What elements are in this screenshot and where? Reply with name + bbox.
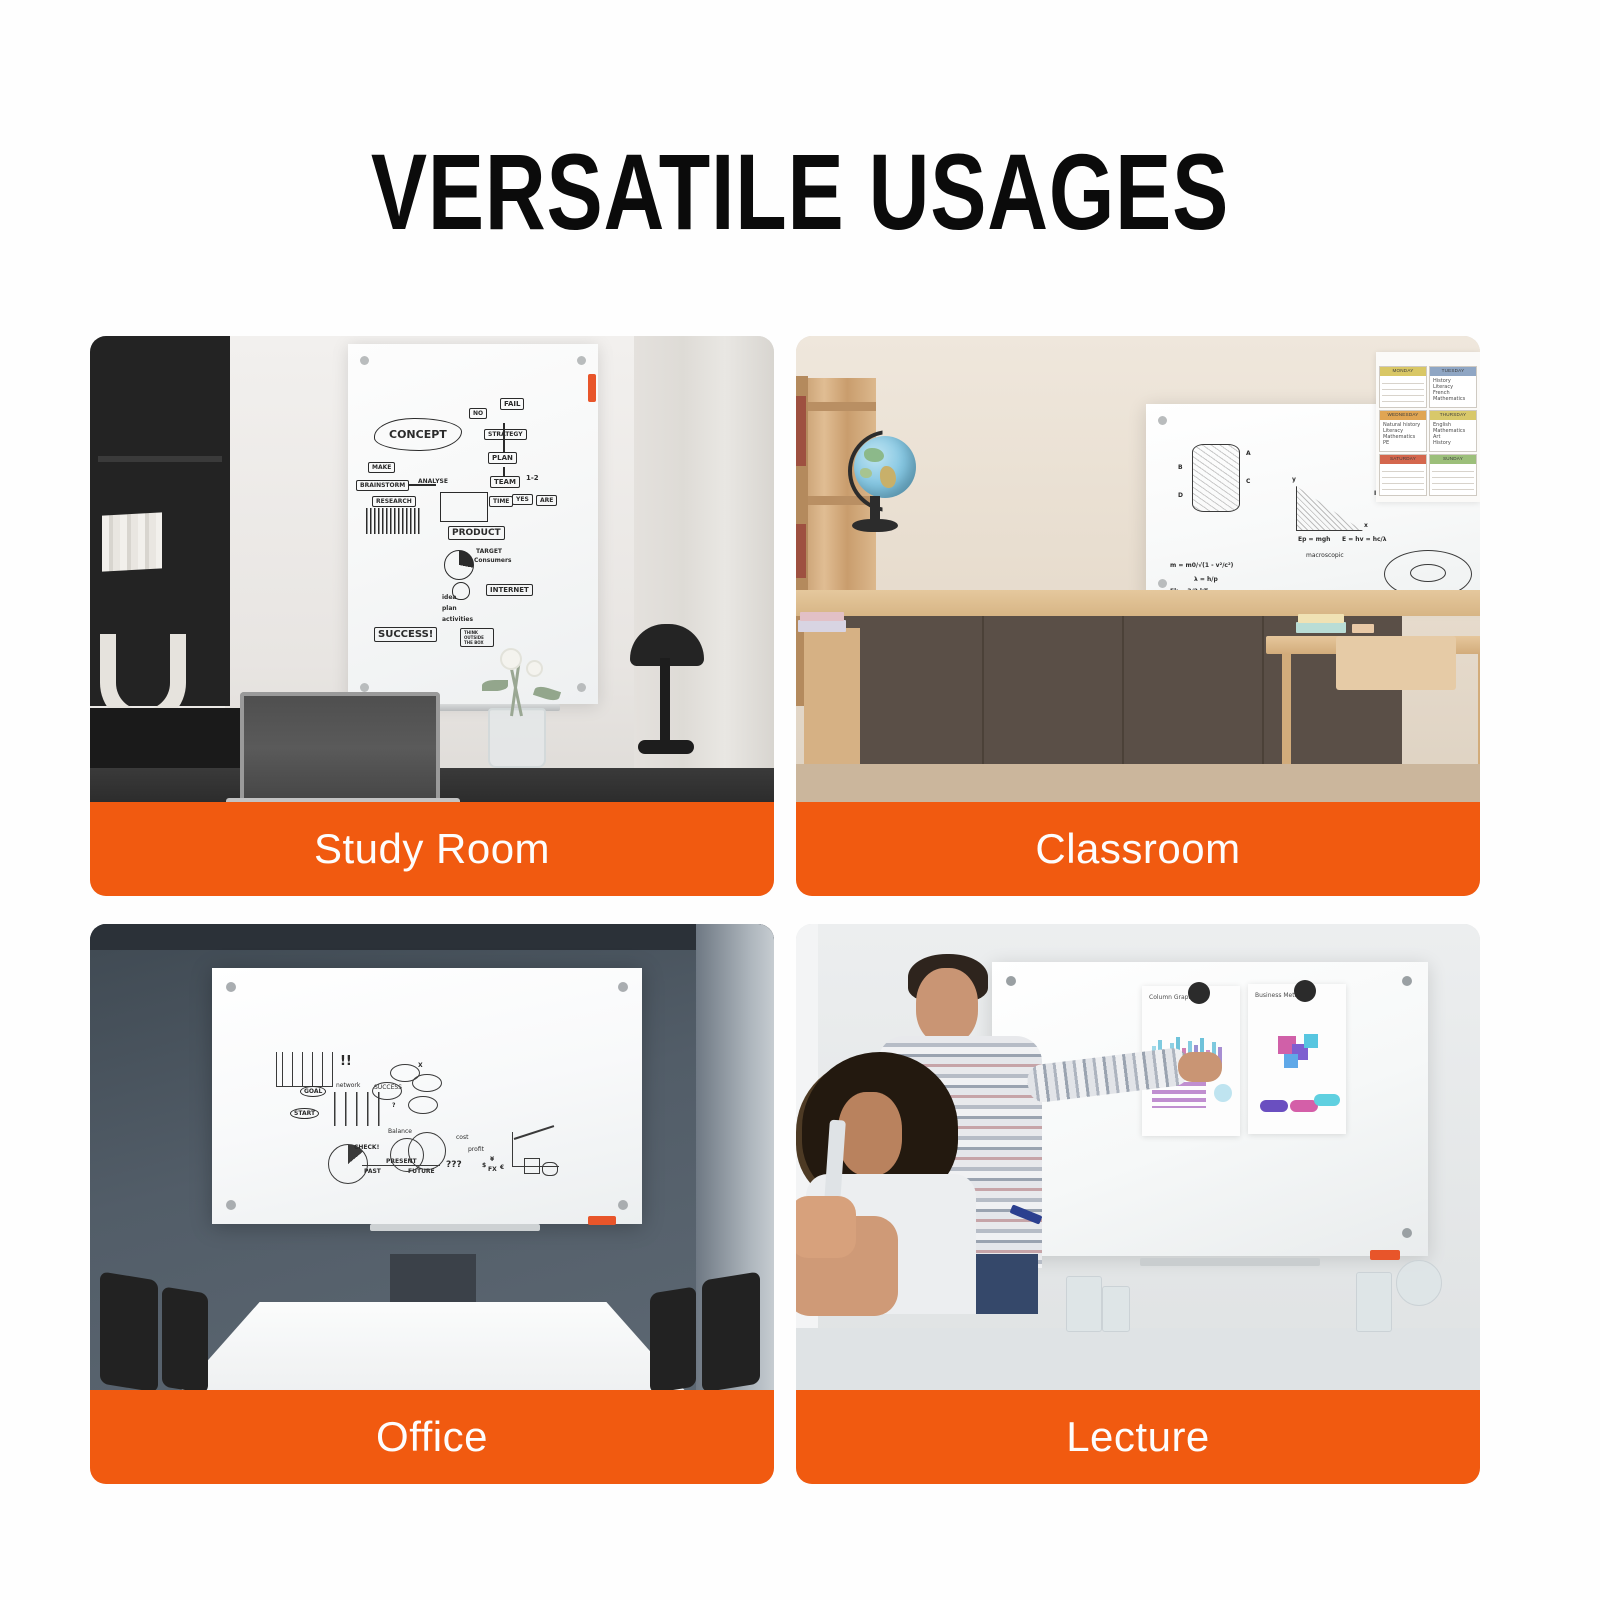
note-strategy: STRATEGY bbox=[484, 429, 527, 440]
cell-lines bbox=[1382, 466, 1424, 493]
day-header: WEDNESDAY bbox=[1380, 411, 1426, 420]
brand-tag bbox=[588, 1216, 616, 1225]
drinking-glass bbox=[1356, 1272, 1392, 1332]
eq-de-broglie: λ = h/p bbox=[1194, 576, 1218, 583]
sketch-bar-chart bbox=[366, 508, 422, 534]
sketch-candlestick-chart bbox=[276, 1052, 333, 1087]
note-plan: PLAN bbox=[488, 452, 517, 464]
sticky-notes bbox=[1352, 624, 1374, 633]
marker-tray bbox=[1140, 1258, 1320, 1266]
sketch-slide-frame bbox=[440, 492, 488, 522]
note-fail: FAIL bbox=[500, 398, 524, 410]
note-yes: YES bbox=[512, 494, 533, 505]
mount-bolt-icon bbox=[1402, 1228, 1412, 1238]
eq-potential-energy: Ep = mgh bbox=[1298, 536, 1330, 543]
curtain bbox=[634, 336, 774, 802]
cabinet-divider bbox=[1262, 616, 1264, 764]
sketch-lightbulb-icon bbox=[452, 582, 470, 600]
mount-bolt-icon bbox=[577, 356, 586, 365]
cell-subjects: English Mathematics Art History bbox=[1433, 422, 1465, 446]
brand-tag bbox=[588, 374, 596, 402]
card-caption-study-room: Study Room bbox=[90, 802, 774, 896]
note-research: RESEARCH bbox=[372, 496, 416, 507]
day-header: TUESDAY bbox=[1430, 367, 1476, 376]
note-plan2: plan bbox=[442, 605, 457, 612]
book bbox=[796, 396, 806, 466]
sketch-disc-hole bbox=[1410, 564, 1446, 582]
note-activities: activities bbox=[442, 616, 473, 623]
study-room-photo: CONCEPT FAIL NO STRATEGY PLAN TEAM 1-2 M… bbox=[90, 336, 774, 802]
note-balance: Balance bbox=[388, 1128, 412, 1135]
sketch-arrow bbox=[503, 445, 505, 453]
drinking-glass bbox=[1102, 1286, 1130, 1332]
page-title: VERSATILE USAGES bbox=[176, 138, 1424, 246]
desk-lamp-arm bbox=[660, 658, 670, 746]
chair-seat bbox=[1336, 636, 1456, 690]
note-goal: GOAL bbox=[300, 1086, 326, 1097]
axis-x: x bbox=[1364, 522, 1368, 529]
glass-whiteboard: CONCEPT FAIL NO STRATEGY PLAN TEAM 1-2 M… bbox=[348, 344, 598, 704]
timetable-cell: TUESDAY History Literacy French Mathemat… bbox=[1429, 366, 1477, 408]
note-yen: ¥ bbox=[490, 1156, 494, 1163]
note-profit: profit bbox=[468, 1146, 484, 1153]
foreground-hand bbox=[796, 1196, 856, 1258]
puzzle-piece-icon bbox=[1284, 1054, 1298, 1068]
ceiling-shadow bbox=[90, 924, 774, 950]
mount-bolt-icon bbox=[1006, 976, 1016, 986]
meeting-chair bbox=[702, 1271, 760, 1390]
sketch-puzzle-piece bbox=[542, 1162, 558, 1176]
timetable-poster: MONDAY TUESDAY History Literacy French M… bbox=[1376, 352, 1480, 502]
timetable-cell: THURSDAY English Mathematics Art History bbox=[1429, 410, 1477, 452]
meeting-chair bbox=[650, 1286, 696, 1390]
usage-card-lecture[interactable]: Column Graphs bbox=[796, 924, 1480, 1484]
card-caption-classroom: Classroom bbox=[796, 802, 1480, 896]
cell-lines bbox=[1382, 378, 1424, 405]
counter bbox=[796, 1328, 1480, 1390]
note-are: ARE bbox=[536, 495, 557, 506]
eq-relativistic-mass: m = m0/√(1 - v²/c²) bbox=[1170, 562, 1233, 569]
magnet-icon[interactable] bbox=[1188, 982, 1210, 1004]
sketch-people-network bbox=[334, 1092, 380, 1126]
note-network: network bbox=[336, 1082, 360, 1089]
note-cost: cost bbox=[456, 1134, 468, 1141]
poster-pill bbox=[1314, 1094, 1340, 1106]
books bbox=[102, 512, 162, 571]
mount-bolt-icon bbox=[226, 982, 236, 992]
lecture-photo: Column Graphs bbox=[796, 924, 1480, 1390]
note-euro: € bbox=[500, 1164, 504, 1171]
poster-pill bbox=[1260, 1100, 1288, 1112]
flower-vase bbox=[488, 708, 546, 768]
poster-business-metaphor: Business Metaphor bbox=[1248, 984, 1346, 1134]
flower-leaf bbox=[482, 680, 508, 691]
floor bbox=[796, 764, 1480, 802]
timetable-cell: MONDAY bbox=[1379, 366, 1427, 408]
note-internet: INTERNET bbox=[486, 584, 533, 596]
day-header: MONDAY bbox=[1380, 367, 1426, 376]
note-check: CHECK! bbox=[354, 1144, 379, 1151]
mount-bolt-icon bbox=[618, 1200, 628, 1210]
book-stack bbox=[1296, 622, 1346, 633]
office-photo: !‌! GOAL START network SUCCESS X ? bbox=[90, 924, 774, 1390]
note-past: PAST bbox=[364, 1168, 381, 1175]
mount-bolt-icon bbox=[577, 683, 586, 692]
cell-subjects: Natural history Literacy Mathematics PE bbox=[1383, 422, 1420, 446]
usage-card-study-room[interactable]: CONCEPT FAIL NO STRATEGY PLAN TEAM 1-2 M… bbox=[90, 336, 774, 896]
sketch-node bbox=[408, 1096, 438, 1114]
meeting-chair bbox=[100, 1271, 158, 1390]
usage-card-classroom[interactable]: A B C D y x I = V/R Ep = mgh E = hv = hc… bbox=[796, 336, 1480, 896]
desk-leg bbox=[1478, 654, 1480, 764]
note-one-two: 1-2 bbox=[526, 474, 539, 482]
note-team: TEAM bbox=[490, 476, 520, 488]
card-caption-office: Office bbox=[90, 1390, 774, 1484]
conference-table bbox=[178, 1302, 688, 1390]
note-question: ? bbox=[392, 1102, 395, 1109]
sketch-pie-chart bbox=[444, 550, 474, 580]
sketch-triangle-graph bbox=[1296, 486, 1363, 531]
brand-tag bbox=[1370, 1250, 1400, 1260]
note-questions: ??? bbox=[446, 1160, 462, 1170]
presenter-head bbox=[916, 968, 978, 1044]
note-success: SUCCESS! bbox=[374, 627, 437, 642]
marketing-page: VERSATILE USAGES bbox=[0, 0, 1600, 1600]
book-stack bbox=[1298, 614, 1344, 623]
sketch-exclamations: !‌! bbox=[340, 1054, 352, 1069]
presenter-pointing-hand bbox=[1178, 1052, 1222, 1082]
timetable-cell: SUNDAY bbox=[1429, 454, 1477, 496]
note-target: TARGET bbox=[476, 548, 502, 555]
note-brainstorm: BRAINSTORM bbox=[356, 480, 409, 491]
puzzle-piece-icon bbox=[1304, 1034, 1318, 1048]
cell-lines bbox=[1432, 466, 1474, 493]
marker-tray bbox=[370, 1224, 540, 1231]
note-present: PRESENT bbox=[386, 1158, 417, 1165]
note-future: FUTURE bbox=[408, 1168, 435, 1175]
card-caption-lecture: Lecture bbox=[796, 1390, 1480, 1484]
sketch-puzzle-piece bbox=[524, 1158, 540, 1174]
mount-bolt-icon bbox=[1402, 976, 1412, 986]
mount-bolt-icon bbox=[1158, 416, 1167, 425]
timetable-cell: SATURDAY bbox=[1379, 454, 1427, 496]
label-b: B bbox=[1178, 464, 1183, 471]
usage-card-grid: CONCEPT FAIL NO STRATEGY PLAN TEAM 1-2 M… bbox=[90, 336, 1510, 1484]
note-no: NO bbox=[469, 408, 487, 419]
sketch-arrow bbox=[503, 423, 505, 447]
book bbox=[796, 524, 806, 578]
globe-base bbox=[852, 519, 898, 532]
day-header: THURSDAY bbox=[1430, 411, 1476, 420]
note-dollar: $ bbox=[482, 1162, 486, 1169]
note-make: MAKE bbox=[368, 462, 395, 473]
wooden-chair bbox=[804, 628, 860, 768]
mount-bolt-icon bbox=[226, 1200, 236, 1210]
cabinet-divider bbox=[1122, 616, 1124, 764]
glass-whiteboard: Column Graphs bbox=[992, 962, 1428, 1256]
drinking-glass bbox=[1066, 1276, 1102, 1332]
label-d: D bbox=[1178, 492, 1183, 499]
note-consumers: Consumers bbox=[474, 557, 512, 564]
shelf-divider bbox=[98, 456, 222, 462]
sketch-arrow bbox=[408, 484, 436, 486]
ladder-rung bbox=[804, 402, 876, 411]
mount-bolt-icon bbox=[360, 356, 369, 365]
note-think-outside-box: THINK OUTSIDE THE BOX bbox=[460, 628, 494, 647]
poster-donut-icon bbox=[1214, 1084, 1232, 1102]
bowl bbox=[1396, 1260, 1442, 1306]
sketch-cylinder bbox=[1192, 444, 1240, 512]
glass-whiteboard: !‌! GOAL START network SUCCESS X ? bbox=[212, 968, 642, 1224]
eq-photon-energy: E = hv = hc/λ bbox=[1342, 536, 1387, 543]
label-macroscopic: macroscopic bbox=[1306, 552, 1344, 559]
sketch-node bbox=[372, 1082, 402, 1100]
book-stack bbox=[800, 612, 844, 621]
desk-lamp-base bbox=[638, 740, 694, 754]
sketch-timeline bbox=[362, 1165, 440, 1166]
note-product: PRODUCT bbox=[448, 526, 505, 540]
sketch-node bbox=[412, 1074, 442, 1092]
day-header: SATURDAY bbox=[1380, 455, 1426, 464]
note-x: X bbox=[418, 1062, 423, 1069]
day-header: SUNDAY bbox=[1430, 455, 1476, 464]
note-fx: FX bbox=[488, 1166, 497, 1173]
sketch-arrow bbox=[503, 467, 505, 476]
magnet-icon[interactable] bbox=[1294, 980, 1316, 1002]
desk-leg bbox=[1282, 654, 1291, 764]
mount-bolt-icon bbox=[360, 683, 369, 692]
note-concept: CONCEPT bbox=[374, 418, 462, 451]
note-start: START bbox=[290, 1108, 319, 1119]
flower-bloom bbox=[526, 660, 543, 677]
timetable-cell: WEDNESDAY Natural history Literacy Mathe… bbox=[1379, 410, 1427, 452]
cell-subjects: History Literacy French Mathematics bbox=[1433, 378, 1465, 402]
note-time: TIME bbox=[489, 496, 513, 507]
flower-bloom bbox=[500, 648, 522, 670]
book-stack bbox=[798, 620, 846, 632]
classroom-photo: A B C D y x I = V/R Ep = mgh E = hv = hc… bbox=[796, 336, 1480, 802]
laptop-screen bbox=[240, 692, 440, 800]
label-c: C bbox=[1246, 478, 1250, 485]
attendee-head bbox=[838, 1092, 902, 1176]
mount-bolt-icon bbox=[618, 982, 628, 992]
meeting-chair bbox=[162, 1286, 208, 1390]
label-a: A bbox=[1246, 450, 1251, 457]
usage-card-office[interactable]: !‌! GOAL START network SUCCESS X ? bbox=[90, 924, 774, 1484]
axis-y: y bbox=[1292, 476, 1296, 483]
mount-bolt-icon bbox=[1158, 579, 1167, 588]
wooden-counter bbox=[796, 590, 1480, 616]
cabinet-divider bbox=[982, 616, 984, 764]
